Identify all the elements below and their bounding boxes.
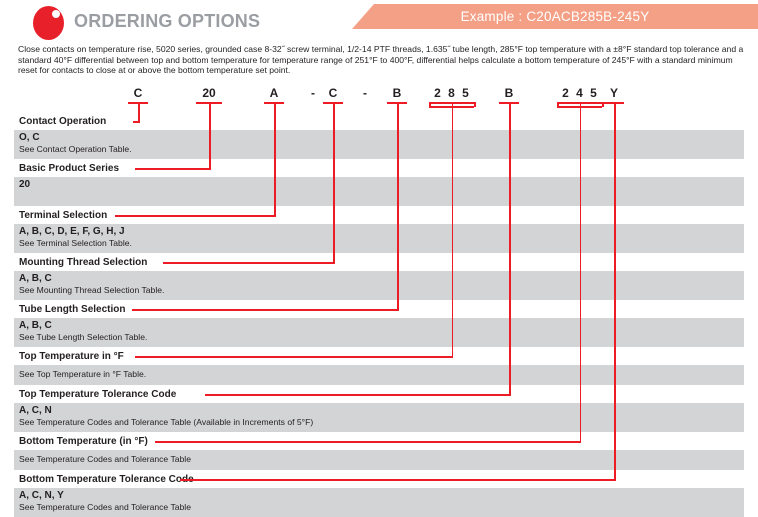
option-value-row: See Top Temperature in °F Table. [14,365,744,385]
code-segment: B [502,86,516,100]
code-tick-marker [387,102,407,104]
part-number-code-row: C20A-C-B285B245Y [0,86,758,110]
example-banner-text: Example : C20ACB285B-245Y [352,4,758,29]
code-segment: 2 [432,86,443,100]
option-reference-note: See Temperature Codes and Tolerance Tabl… [19,454,744,465]
option-label-row: Bottom Temperature (in °F) [14,432,744,450]
option-label-row: Bottom Temperature Tolerance Code [14,470,744,488]
red-oval-logo-icon [33,6,64,40]
option-code-values: A, B, C, D, E, F, G, H, J [19,226,744,238]
option-label-row: Top Temperature in °F [14,347,744,365]
option-value-row: A, B, C, D, E, F, G, H, JSee Terminal Se… [14,224,744,253]
code-tick-marker [457,102,474,104]
code-segment: 20 [199,86,219,100]
option-label-text: Top Temperature in °F [19,351,124,362]
option-code-values: A, C, N [19,405,744,417]
code-segment: C [131,86,145,100]
code-segment: 4 [574,86,585,100]
code-tick-marker [499,102,519,104]
code-segment: Y [607,86,621,100]
description-paragraph: Close contacts on temperature rise, 5020… [18,44,744,76]
option-value-row: 20 [14,177,744,206]
page-title: ORDERING OPTIONS [74,11,260,32]
option-label-text: Tube Length Selection [19,304,125,315]
option-label-text: Contact Operation [19,116,106,127]
option-label-row: Mounting Thread Selection [14,253,744,271]
code-tick-marker [323,102,343,104]
code-tick-marker [196,102,222,104]
code-segment: C [326,86,340,100]
option-reference-note: See Contact Operation Table. [19,144,744,155]
code-segment: - [359,86,371,100]
ordering-options-table: Contact OperationO, CSee Contact Operati… [14,112,744,517]
logo-white-dot-icon [52,10,60,18]
option-value-row: See Temperature Codes and Tolerance Tabl… [14,450,744,470]
option-value-row: A, C, NSee Temperature Codes and Toleran… [14,403,744,432]
option-reference-note: See Terminal Selection Table. [19,238,744,249]
code-segment: - [307,86,319,100]
code-tick-marker [128,102,148,104]
option-label-row: Top Temperature Tolerance Code [14,385,744,403]
option-code-values: A, B, C [19,273,744,285]
option-label-row: Terminal Selection [14,206,744,224]
option-label-row: Contact Operation [14,112,744,130]
code-segment: A [267,86,281,100]
code-segment: 8 [446,86,457,100]
option-reference-note: See Mounting Thread Selection Table. [19,285,744,296]
page-header: ORDERING OPTIONS Example : C20ACB285B-24… [0,0,758,42]
option-code-values: A, B, C [19,320,744,332]
option-reference-note: See Tube Length Selection Table. [19,332,744,343]
code-tick-marker [585,102,602,104]
option-code-values: O, C [19,132,744,144]
option-label-text: Mounting Thread Selection [19,257,147,268]
code-segment: B [390,86,404,100]
option-label-text: Bottom Temperature Tolerance Code [19,474,194,485]
option-code-values: A, C, N, Y [19,490,744,502]
option-label-text: Basic Product Series [19,163,119,174]
option-value-row: A, C, N, YSee Temperature Codes and Tole… [14,488,744,517]
option-reference-note: See Temperature Codes and Tolerance Tabl… [19,417,744,428]
option-label-text: Terminal Selection [19,210,107,221]
option-label-text: Top Temperature Tolerance Code [19,389,176,400]
option-label-text: Bottom Temperature (in °F) [19,436,148,447]
option-label-row: Tube Length Selection [14,300,744,318]
option-code-values: 20 [19,179,744,191]
option-reference-note: See Top Temperature in °F Table. [19,369,744,380]
code-segment: 5 [460,86,471,100]
code-segment: 2 [560,86,571,100]
option-value-row: O, CSee Contact Operation Table. [14,130,744,159]
code-tick-marker [264,102,284,104]
option-label-row: Basic Product Series [14,159,744,177]
option-value-row: A, B, CSee Tube Length Selection Table. [14,318,744,347]
code-tick-marker [604,102,624,104]
code-segment: 5 [588,86,599,100]
option-value-row: A, B, CSee Mounting Thread Selection Tab… [14,271,744,300]
